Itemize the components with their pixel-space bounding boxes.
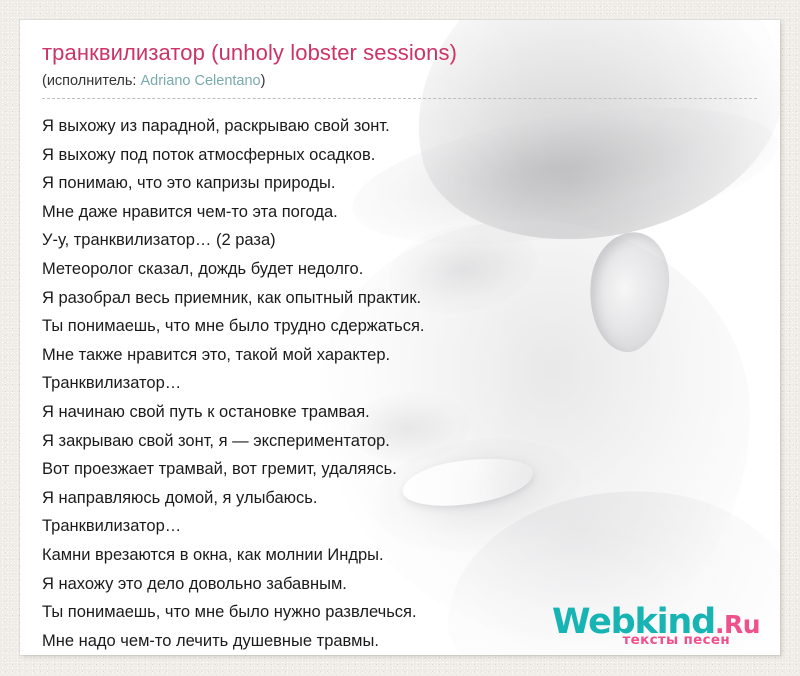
lyrics-line: Я нахожу это дело довольно забавным. (42, 570, 758, 599)
lyrics-line: Я начинаю свой путь к остановке трамвая. (42, 398, 758, 427)
lyrics-line: Мне даже нравится чем-то эта погода. (42, 198, 758, 227)
page-title: транквилизатор (unholy lobster sessions) (42, 39, 758, 67)
lyrics-line: Транквилизатор… (42, 512, 758, 541)
artist-line: (исполнитель: Adriano Celentano) (42, 71, 758, 91)
lyrics-line: Я разобрал весь приемник, как опытный пр… (42, 284, 758, 313)
lyrics-line: Я направляюсь домой, я улыбаюсь. (42, 484, 758, 513)
header-divider (42, 98, 757, 99)
lyrics-line: Ты понимаешь, что мне было трудно сдержа… (42, 312, 758, 341)
lyrics-line: Я закрываю свой зонт, я — экспериментато… (42, 427, 758, 456)
lyrics-line: Камни врезаются в окна, как молнии Индры… (42, 541, 758, 570)
lyrics-line: Вот проезжает трамвай, вот гремит, удаля… (42, 455, 758, 484)
artist-link[interactable]: Adriano Celentano (140, 73, 260, 89)
lyrics-line: Я выхожу под поток атмосферных осадков. (42, 141, 758, 170)
artist-prefix-label: (исполнитель: (42, 73, 136, 89)
webkind-logo[interactable]: Webkind.Ru тексты песен (552, 605, 760, 648)
lyrics-line: Мне также нравится это, такой мой характ… (42, 341, 758, 370)
lyrics-line: Транквилизатор… (42, 369, 758, 398)
lyrics-line: Я выхожу из парадной, раскрываю свой зон… (42, 112, 758, 141)
artist-suffix-label: ) (261, 73, 266, 89)
lyrics-page-card: транквилизатор (unholy lobster sessions)… (20, 20, 780, 655)
lyrics-body: Я выхожу из парадной, раскрываю свой зон… (42, 112, 758, 655)
lyrics-line: У-у, транквилизатор… (2 раза) (42, 226, 758, 255)
lyrics-line: Я понимаю, что это капризы природы. (42, 169, 758, 198)
lyrics-line: Метеоролог сказал, дождь будет недолго. (42, 255, 758, 284)
page-content: транквилизатор (unholy lobster sessions)… (20, 20, 780, 655)
